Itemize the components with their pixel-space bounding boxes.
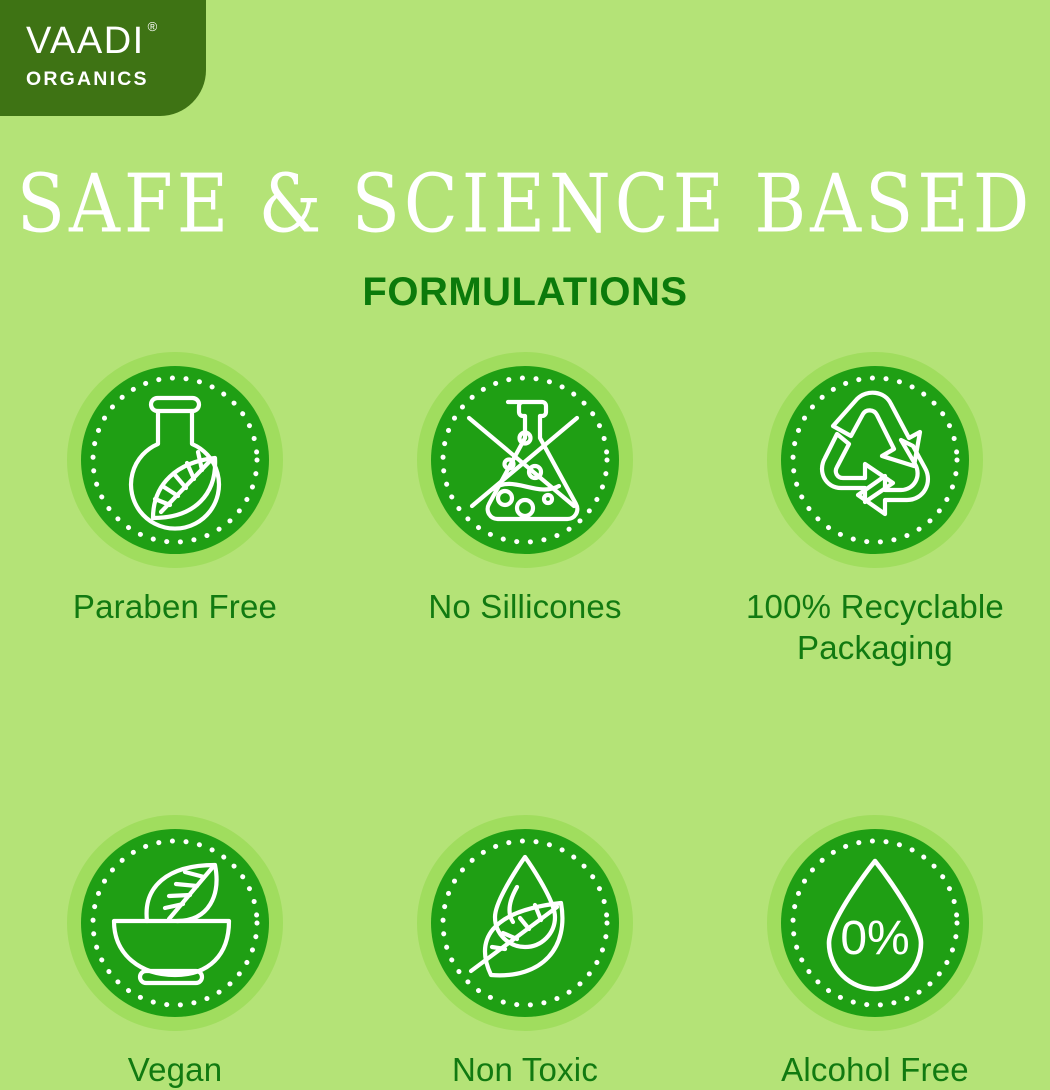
feature-item-recyclable-packaging: 100% Recyclable Packaging bbox=[700, 352, 1050, 669]
flask-leaf-icon bbox=[81, 366, 269, 554]
page-headline: SAFE & SCIENCE BASED bbox=[11, 163, 1040, 244]
feature-badge bbox=[417, 352, 633, 568]
feature-caption: Non Toxic bbox=[360, 1049, 690, 1090]
feature-item-vegan: Vegan bbox=[0, 815, 350, 1090]
brand-name: VAADI bbox=[26, 20, 145, 62]
feature-badge bbox=[67, 815, 283, 1031]
feature-caption: Vegan bbox=[10, 1049, 340, 1090]
brand-wordmark: VAADI ® bbox=[26, 22, 145, 60]
feature-item-paraben-free: Paraben Free bbox=[0, 352, 350, 669]
page-subheadline: FORMULATIONS bbox=[0, 272, 1050, 312]
feature-caption: Alcohol Free bbox=[710, 1049, 1040, 1090]
feature-badge bbox=[767, 352, 983, 568]
recycle-icon bbox=[781, 366, 969, 554]
feature-badge: 0% bbox=[767, 815, 983, 1031]
feature-caption: 100% Recyclable Packaging bbox=[710, 586, 1040, 669]
brand-tagline: ORGANICS bbox=[26, 70, 206, 90]
feature-item-alcohol-free: 0% Alcohol Free bbox=[700, 815, 1050, 1090]
droplet-zero-percent-icon: 0% bbox=[781, 829, 969, 1017]
feature-caption: Paraben Free bbox=[10, 586, 340, 627]
zero-percent-label: 0% bbox=[840, 912, 909, 965]
feature-item-non-toxic: Non Toxic bbox=[350, 815, 700, 1090]
bowl-leaf-icon bbox=[81, 829, 269, 1017]
droplet-leaf-icon bbox=[431, 829, 619, 1017]
feature-badge bbox=[417, 815, 633, 1031]
registered-trademark-icon: ® bbox=[148, 20, 159, 33]
feature-item-no-sillicones: No Sillicones bbox=[350, 352, 700, 669]
feature-badge bbox=[67, 352, 283, 568]
brand-logo-badge: VAADI ® ORGANICS bbox=[0, 0, 206, 116]
feature-grid: Paraben Free bbox=[0, 352, 1050, 1090]
feature-caption: No Sillicones bbox=[360, 586, 690, 627]
no-silicones-flask-icon bbox=[431, 366, 619, 554]
